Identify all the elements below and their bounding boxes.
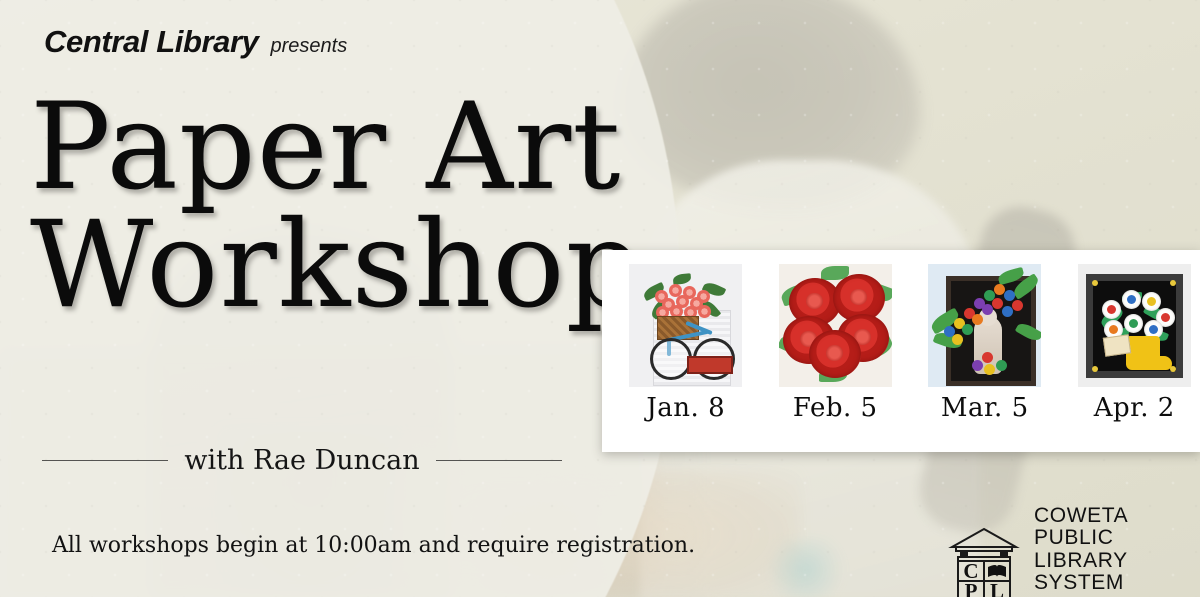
session-dates-panel: Jan. 8 Feb. 5 bbox=[602, 250, 1200, 452]
logo-title-line-2: LIBRARY SYSTEM bbox=[1034, 550, 1200, 595]
page-title: Paper Art Workshop bbox=[30, 92, 643, 321]
library-logo: C P L COWETA PUBLIC LIBRARY SYSTEM CENTR… bbox=[948, 505, 1200, 597]
session-card: Jan. 8 bbox=[620, 264, 752, 423]
byline: with Rae Duncan bbox=[42, 445, 562, 476]
event-banner: Central Library presents Paper Art Works… bbox=[0, 0, 1200, 597]
session-date-label: Apr. 2 bbox=[1094, 393, 1175, 423]
cpl-logo-svg: C P L bbox=[948, 527, 1020, 597]
session-card: Apr. 2 bbox=[1069, 264, 1200, 423]
logo-title-line-1: COWETA PUBLIC bbox=[1034, 505, 1200, 550]
title-line-1: Paper Art bbox=[30, 92, 643, 204]
cpl-logo-mark: C P L bbox=[948, 527, 1020, 597]
byline-rule-left bbox=[42, 460, 168, 461]
session-date-label: Mar. 5 bbox=[941, 393, 1029, 423]
session-date-label: Feb. 5 bbox=[793, 393, 878, 423]
session-thumbnail-feb bbox=[779, 264, 892, 387]
session-card: Feb. 5 bbox=[770, 264, 902, 423]
session-card: Mar. 5 bbox=[919, 264, 1051, 423]
logo-text-block: COWETA PUBLIC LIBRARY SYSTEM CENTRAL | G… bbox=[1034, 505, 1200, 597]
session-thumbnail-apr bbox=[1078, 264, 1191, 387]
header: Central Library presents bbox=[44, 24, 347, 60]
open-book-icon bbox=[988, 565, 1006, 577]
session-thumbnail-mar bbox=[928, 264, 1041, 387]
svg-text:L: L bbox=[990, 579, 1004, 597]
instructor-name: with Rae Duncan bbox=[184, 445, 419, 476]
registration-note: All workshops begin at 10:00am and requi… bbox=[52, 533, 695, 558]
svg-text:P: P bbox=[965, 579, 978, 597]
library-name: Central Library bbox=[44, 24, 259, 60]
session-date-label: Jan. 8 bbox=[646, 393, 725, 423]
title-line-2: Workshop bbox=[30, 210, 643, 322]
byline-rule-right bbox=[436, 460, 562, 461]
session-thumbnail-jan bbox=[629, 264, 742, 387]
presents-label: presents bbox=[271, 35, 348, 58]
